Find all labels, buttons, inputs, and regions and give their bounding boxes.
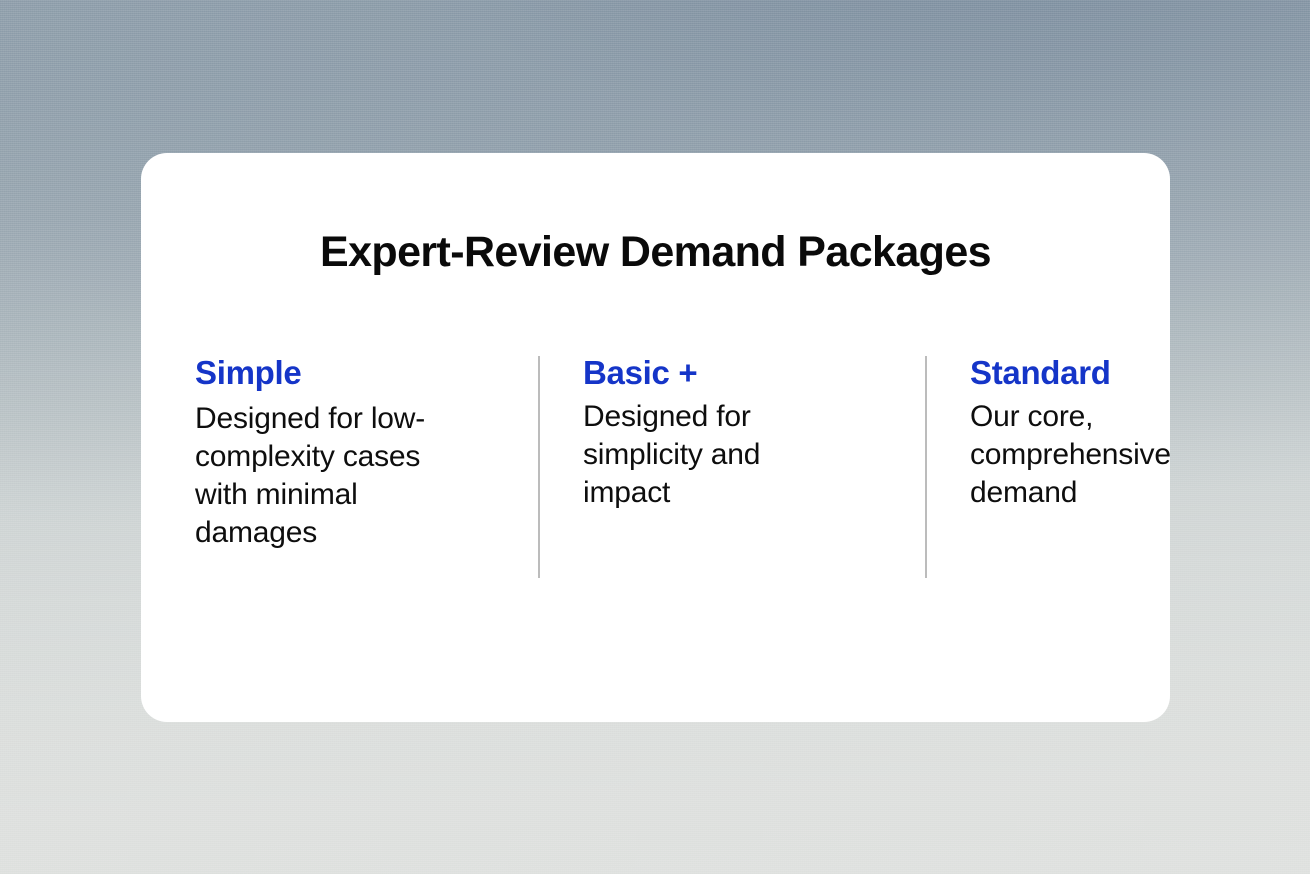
package-name: Basic + (583, 356, 901, 389)
package-columns: Simple Designed for low-complexity cases… (195, 356, 1116, 578)
package-name: Simple (195, 356, 514, 389)
package-description: Designed for low-complexity cases with m… (195, 400, 465, 552)
package-column-basic-plus[interactable]: Basic + Designed for simplicity and impa… (538, 356, 925, 578)
package-name: Standard (970, 356, 1288, 389)
package-description: Our core, comprehensive demand (970, 398, 1212, 512)
column-divider (925, 356, 927, 578)
column-divider (538, 356, 540, 578)
package-column-simple[interactable]: Simple Designed for low-complexity cases… (195, 356, 538, 578)
package-description: Designed for simplicity and impact (583, 398, 811, 512)
page-title: Expert-Review Demand Packages (141, 231, 1170, 274)
packages-card: Expert-Review Demand Packages Simple Des… (141, 153, 1170, 722)
package-column-standard[interactable]: Standard Our core, comprehensive demand (925, 356, 1310, 578)
